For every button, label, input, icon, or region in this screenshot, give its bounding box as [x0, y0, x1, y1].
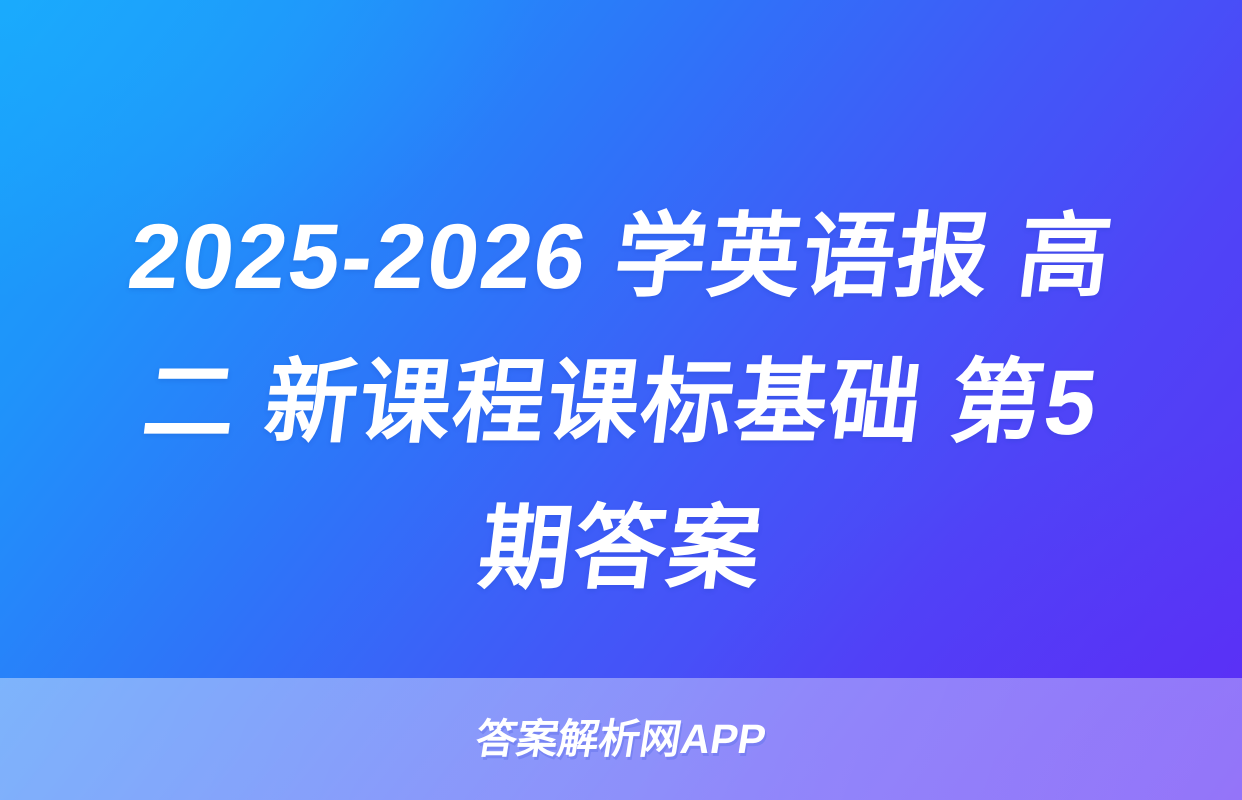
title-line-3: 期答案: [47, 476, 1195, 622]
app-watermark-bar: 答案解析网APP: [0, 678, 1242, 800]
title-line-1: 2025-2026 学英语报 高: [47, 184, 1195, 330]
page-title: 2025-2026 学英语报 高 二 新课程课标基础 第5 期答案: [0, 184, 1242, 622]
answer-banner: 2025-2026 学英语报 高 二 新课程课标基础 第5 期答案 答案解析网A…: [0, 0, 1242, 800]
title-line-2: 二 新课程课标基础 第5: [47, 330, 1195, 476]
app-watermark-label: 答案解析网APP: [473, 719, 769, 760]
